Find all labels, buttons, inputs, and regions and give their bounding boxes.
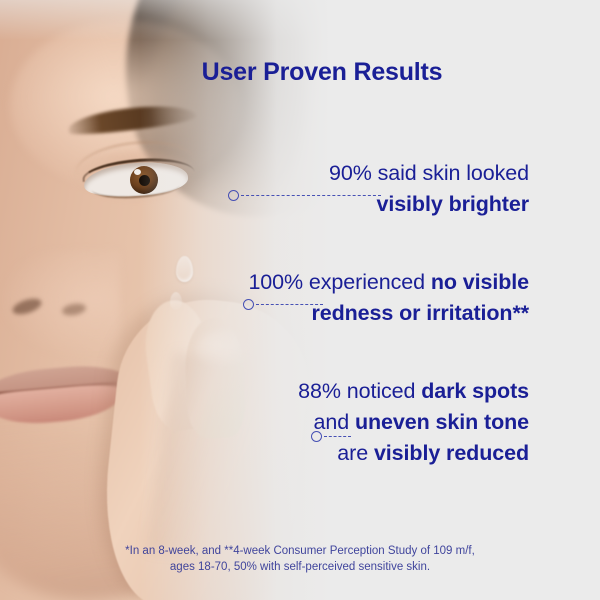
page-title: User Proven Results [0,58,600,87]
claim-dark-spots-line2-bold: uneven skin tone [355,410,529,434]
claim-brighter-line1: 90% said skin looked [329,158,529,189]
claim-no-redness-line2: redness or irritation** [248,298,529,329]
claim-dark-spots-line2-plain: and [314,410,355,434]
footnote-line-1: *In an 8-week, and **4-week Consumer Per… [70,544,530,560]
claim-no-redness: 100% experienced no visible redness or i… [248,267,529,329]
claim-dark-spots-line3-bold: visibly reduced [374,441,529,465]
connector-dot-icon [228,190,239,201]
claim-no-redness-line1-plain: 100% experienced [248,270,430,294]
claim-brighter-line2: visibly brighter [329,189,529,220]
claim-dark-spots-line1: 88% noticed dark spots [298,376,529,407]
claim-brighter: 90% said skin looked visibly brighter [329,158,529,220]
claim-dark-spots-line1-bold: dark spots [421,379,529,403]
claim-no-redness-line2-bold: redness or irritation** [311,301,529,325]
claim-no-redness-line1: 100% experienced no visible [248,267,529,298]
claim-brighter-line1-text: 90% said skin looked [329,161,529,185]
claim-brighter-line2-text: visibly brighter [376,192,529,216]
claim-dark-spots-line2: and uneven skin tone [298,407,529,438]
claim-dark-spots: 88% noticed dark spots and uneven skin t… [298,376,529,469]
claim-dark-spots-line3: are visibly reduced [298,438,529,469]
ad-creative: User Proven Results 90% said skin looked… [0,0,600,600]
claim-dark-spots-line1-plain: 88% noticed [298,379,421,403]
footnote-line-2: ages 18-70, 50% with self-perceived sens… [70,560,530,576]
claim-dark-spots-line3-plain: are [337,441,374,465]
footnote: *In an 8-week, and **4-week Consumer Per… [0,544,600,575]
claim-no-redness-line1-bold: no visible [431,270,529,294]
